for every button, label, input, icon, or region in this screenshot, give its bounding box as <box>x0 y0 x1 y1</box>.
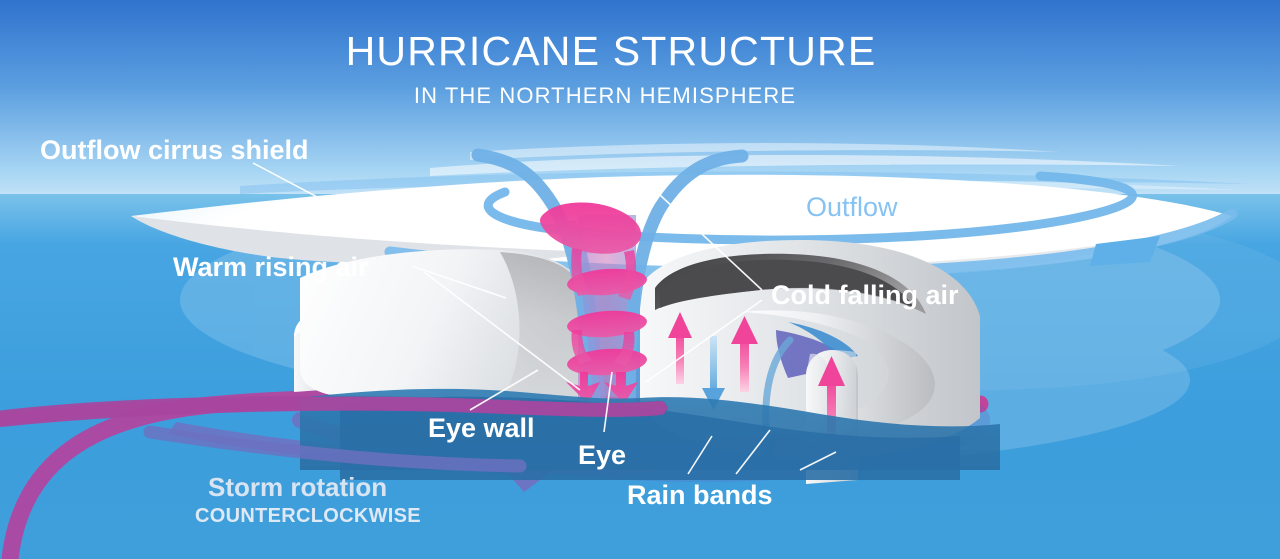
leader-outflow-cirrus-shield <box>253 163 370 225</box>
leader-eye-wall <box>470 370 538 410</box>
leader-rain-bands-1 <box>688 436 712 474</box>
label-eye: Eye <box>578 441 626 469</box>
page-title: HURRICANE STRUCTURE <box>346 30 877 73</box>
leader-eye <box>604 372 612 432</box>
hurricane-structure-infographic: HURRICANE STRUCTURE IN THE NORTHERN HEMI… <box>0 0 1280 559</box>
leader-warm-rising-air-2 <box>424 272 580 390</box>
leader-warm-rising-air-1 <box>412 266 506 298</box>
page-subtitle: IN THE NORTHERN HEMISPHERE <box>414 84 796 107</box>
label-rain-bands: Rain bands <box>627 481 773 509</box>
leader-rain-bands-2 <box>736 430 770 474</box>
leader-rain-bands-3 <box>800 452 836 470</box>
label-storm-rotation-direction: COUNTERCLOCKWISE <box>195 506 421 527</box>
label-outflow: Outflow <box>806 193 898 221</box>
label-outflow-cirrus-shield: Outflow cirrus shield <box>40 136 309 164</box>
label-warm-rising-air: Warm rising air <box>173 253 369 281</box>
label-cold-falling-air: Cold falling air <box>771 281 959 309</box>
label-eye-wall: Eye wall <box>428 414 535 442</box>
leader-cold-falling-air-1 <box>660 195 762 290</box>
label-storm-rotation: Storm rotation <box>208 474 387 501</box>
leader-cold-falling-air-2 <box>646 300 762 382</box>
